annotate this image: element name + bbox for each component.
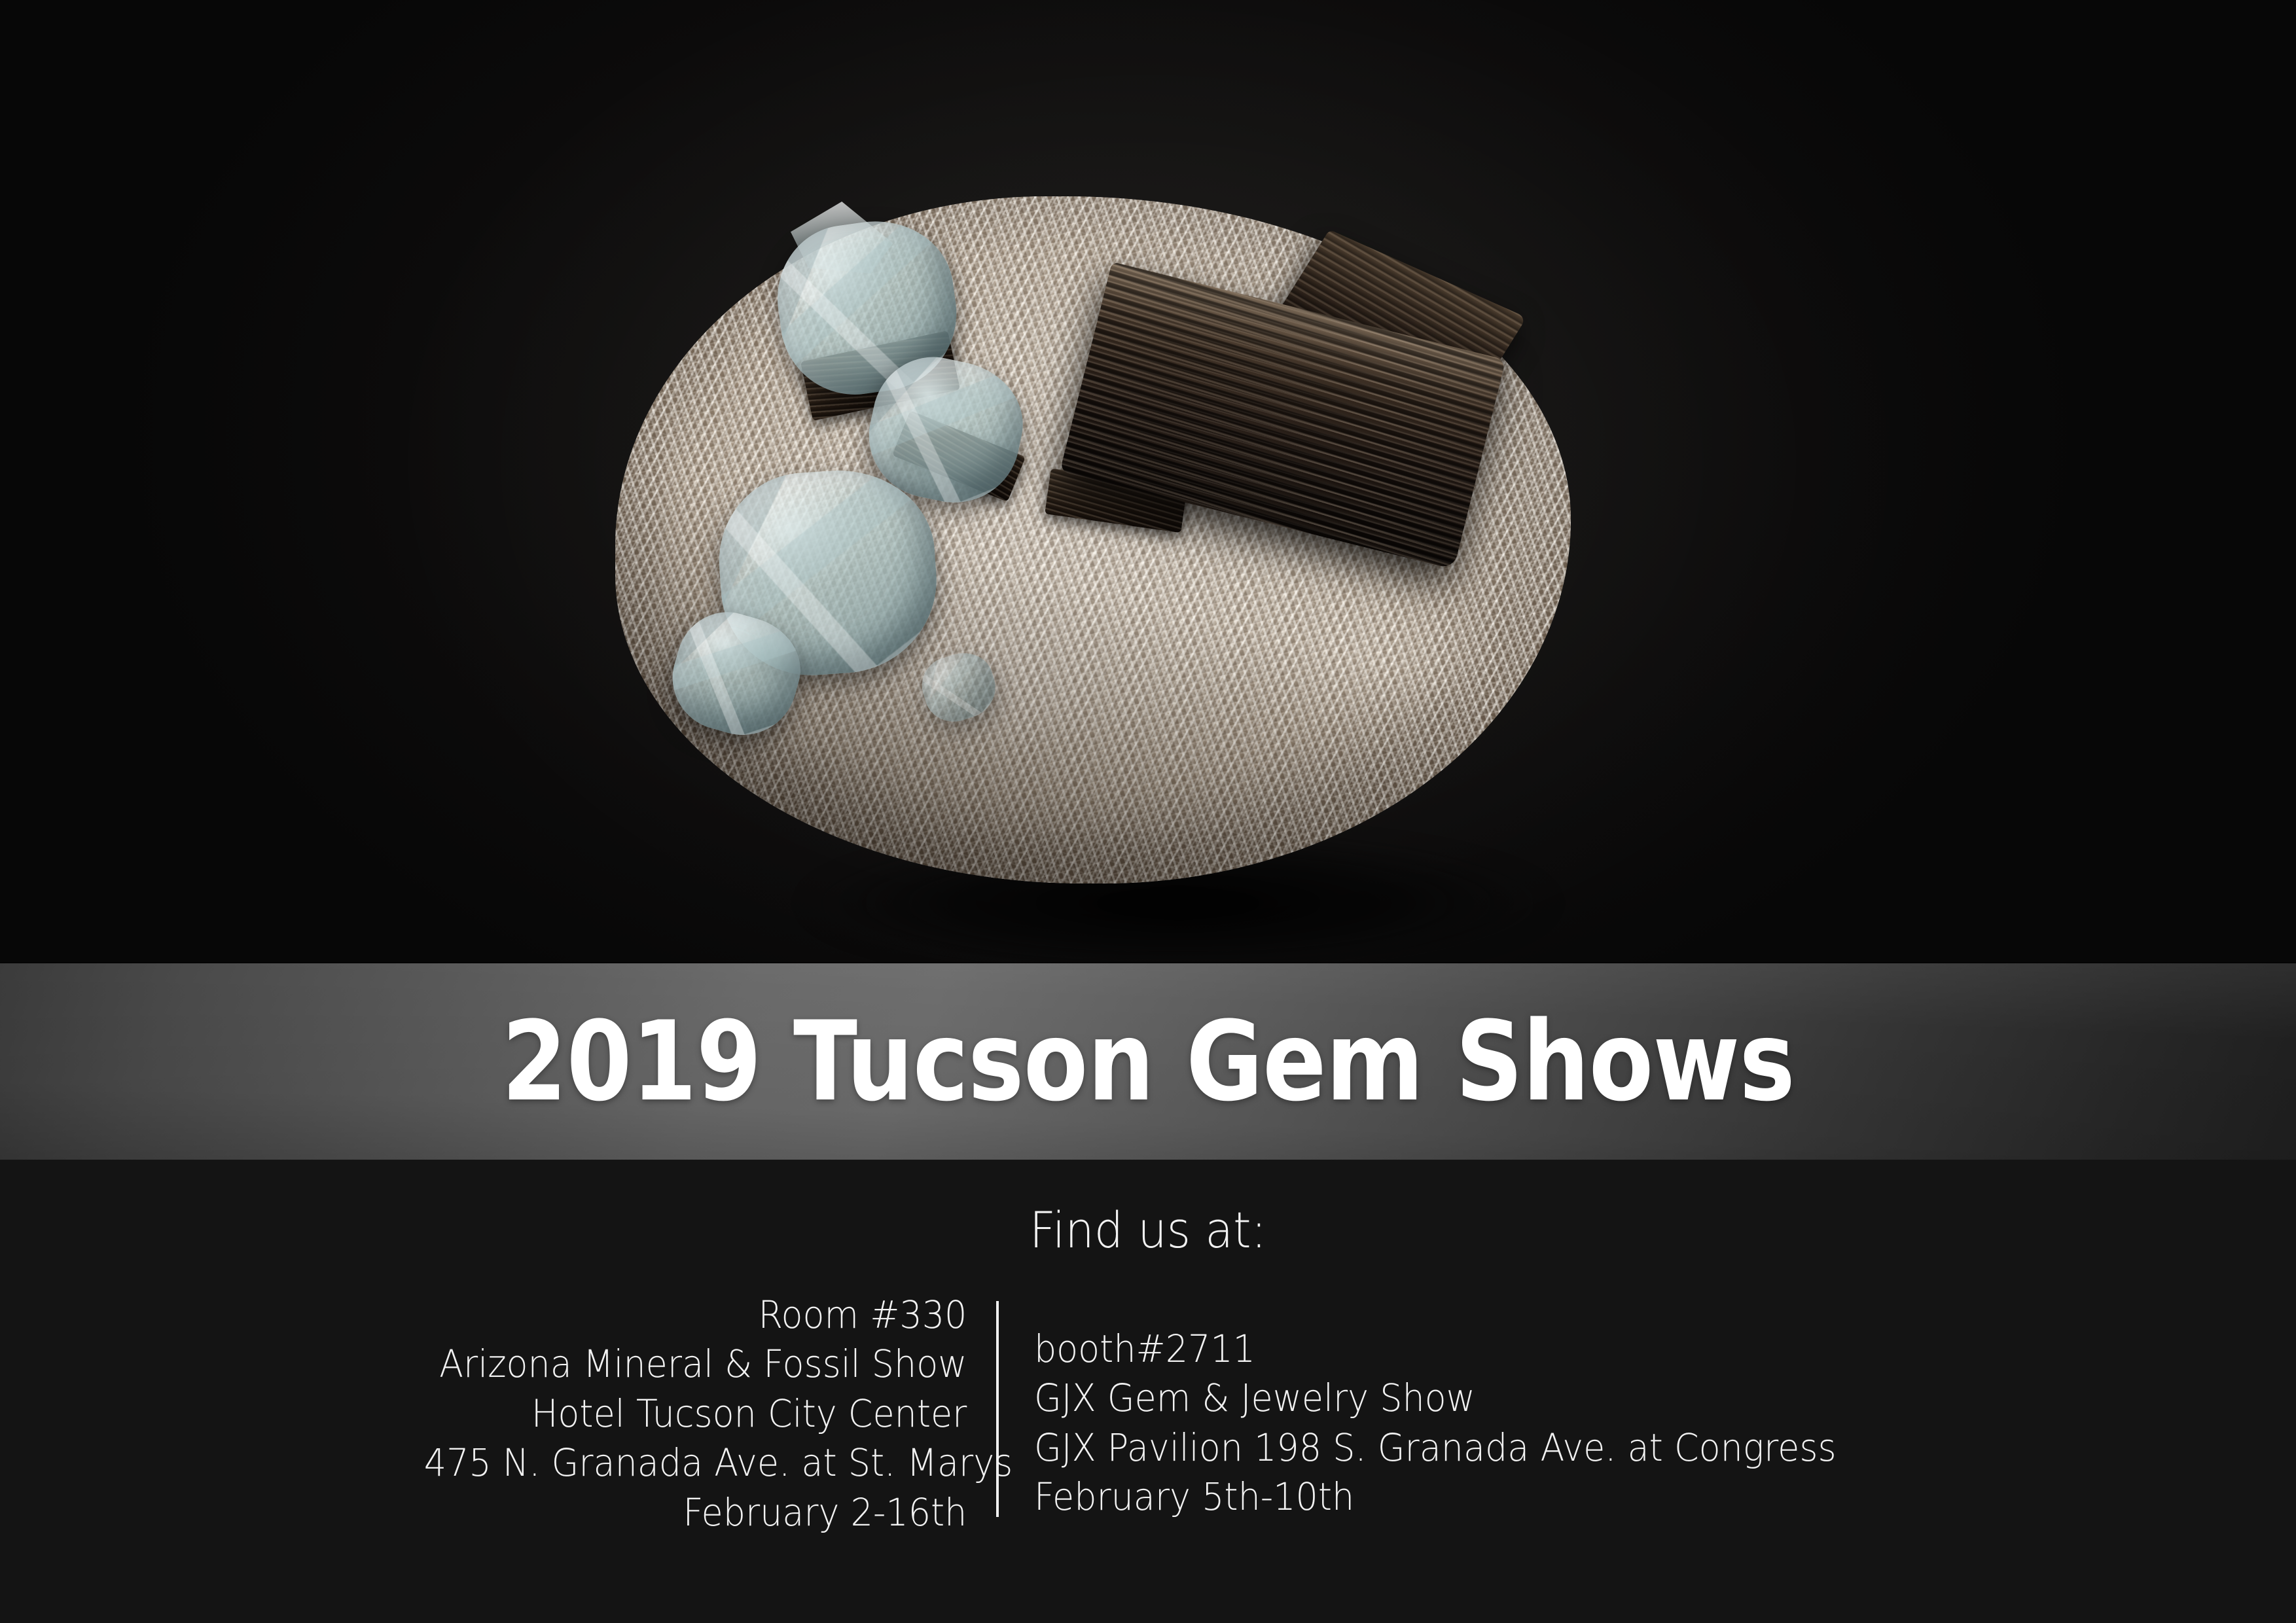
presentation-slide: 2019 Tucson Gem Shows Find us at: Room #…: [0, 0, 2296, 1623]
location-line-venue: Hotel Tucson City Center: [424, 1389, 967, 1438]
location-line-show: Arizona Mineral & Fossil Show: [424, 1340, 967, 1389]
location-line-room: Room #330: [424, 1291, 967, 1340]
location-line-address: GJX Pavilion 198 S. Granada Ave. at Cong…: [1034, 1423, 1851, 1472]
location-line-booth: booth#2711: [1034, 1325, 1851, 1374]
location-arizona-mineral-fossil-show: Room #330 Arizona Mineral & Fossil Show …: [424, 1291, 996, 1537]
title-banner: 2019 Tucson Gem Shows: [0, 963, 2296, 1160]
location-line-dates: February 2-16th: [424, 1488, 967, 1537]
locations-columns: Room #330 Arizona Mineral & Fossil Show …: [0, 1291, 2296, 1537]
find-us-heading: Find us at:: [92, 1205, 2204, 1255]
location-line-show: GJX Gem & Jewelry Show: [1034, 1374, 1851, 1423]
mineral-specimen: [615, 196, 1754, 963]
location-gjx-gem-jewelry-show: booth#2711 GJX Gem & Jewelry Show GJX Pa…: [999, 1291, 1851, 1522]
location-line-dates: February 5th-10th: [1034, 1472, 1851, 1522]
find-us-section: Find us at: Room #330 Arizona Mineral & …: [0, 1160, 2296, 1623]
page-title: 2019 Tucson Gem Shows: [501, 1007, 1794, 1116]
specimen-photo: [0, 0, 2296, 963]
location-line-address: 475 N. Granada Ave. at St. Marys: [424, 1438, 967, 1488]
